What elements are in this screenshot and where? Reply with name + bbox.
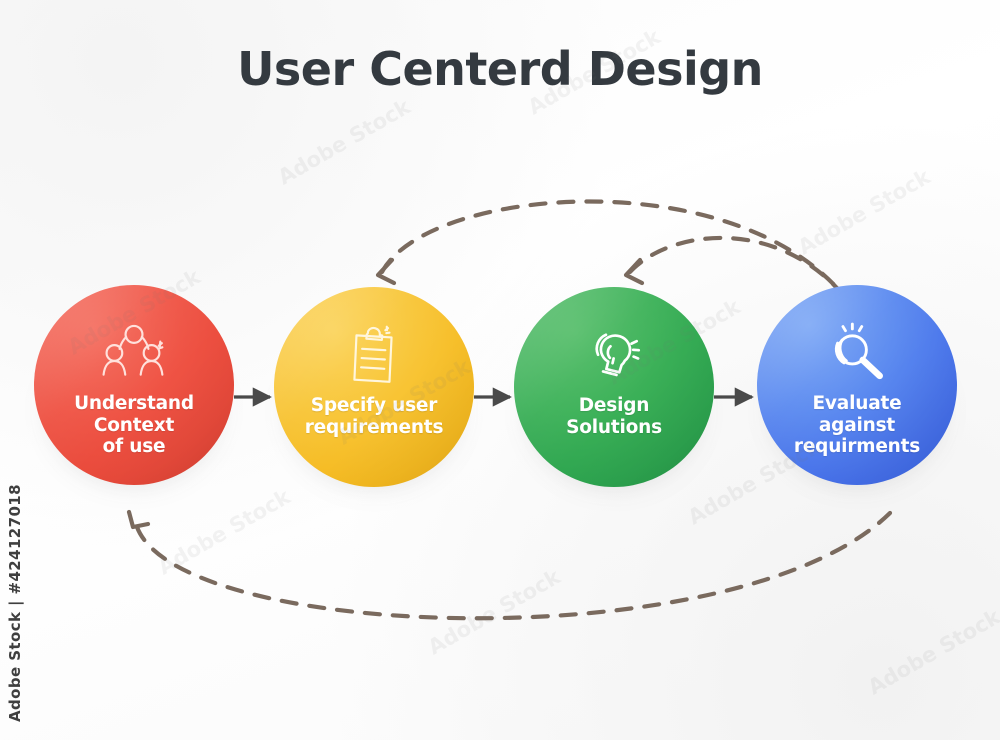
watermark-tile: Adobe Stock [794,165,934,260]
node-label-line: Solutions [566,417,662,439]
node-label: Understand Context of use [62,393,206,458]
node-label-line: Context [74,415,194,437]
node-evaluate-against-requirments[interactable]: Evaluate against requirments [757,285,957,485]
watermark-tile: Adobe Stock [424,565,564,660]
node-label-line: against [794,415,920,437]
node-specify-user-requirements[interactable]: Specify user requirements [274,287,474,487]
node-label-line: Understand [74,393,194,415]
node-label-line: requirements [305,417,444,439]
node-label-line: requirments [794,436,920,458]
node-label-line: Design [566,395,662,417]
node-understand-context-of-use[interactable]: Understand Context of use [34,285,234,485]
node-label: Specify user requirements [293,395,456,438]
magnifier-icon [824,321,890,387]
people-group-icon [101,321,167,387]
clipboard-icon [341,323,407,389]
watermark-credit: Adobe Stock | #424127018 [6,484,24,722]
node-label-line: Evaluate [794,393,920,415]
node-label: Design Solutions [554,395,674,438]
arrowhead-to-understand [129,512,148,527]
node-label: Evaluate against requirments [782,393,932,458]
loop-evaluate-to-understand [137,513,890,618]
node-label-line: of use [74,436,194,458]
arrowhead-to-design [626,260,642,283]
lightbulb-icon [581,323,647,389]
node-label-line: Specify user [305,395,444,417]
watermark-tile: Adobe Stock [864,605,1000,700]
watermark-tile: Adobe Stock [274,95,414,190]
arrowhead-to-specify [378,260,394,283]
page-title: User Centerd Design [0,42,1000,96]
infographic-canvas: Adobe Stock Adobe Stock Adobe Stock Adob… [0,0,1000,740]
node-design-solutions[interactable]: Design Solutions [514,287,714,487]
watermark-tile: Adobe Stock [154,485,294,580]
